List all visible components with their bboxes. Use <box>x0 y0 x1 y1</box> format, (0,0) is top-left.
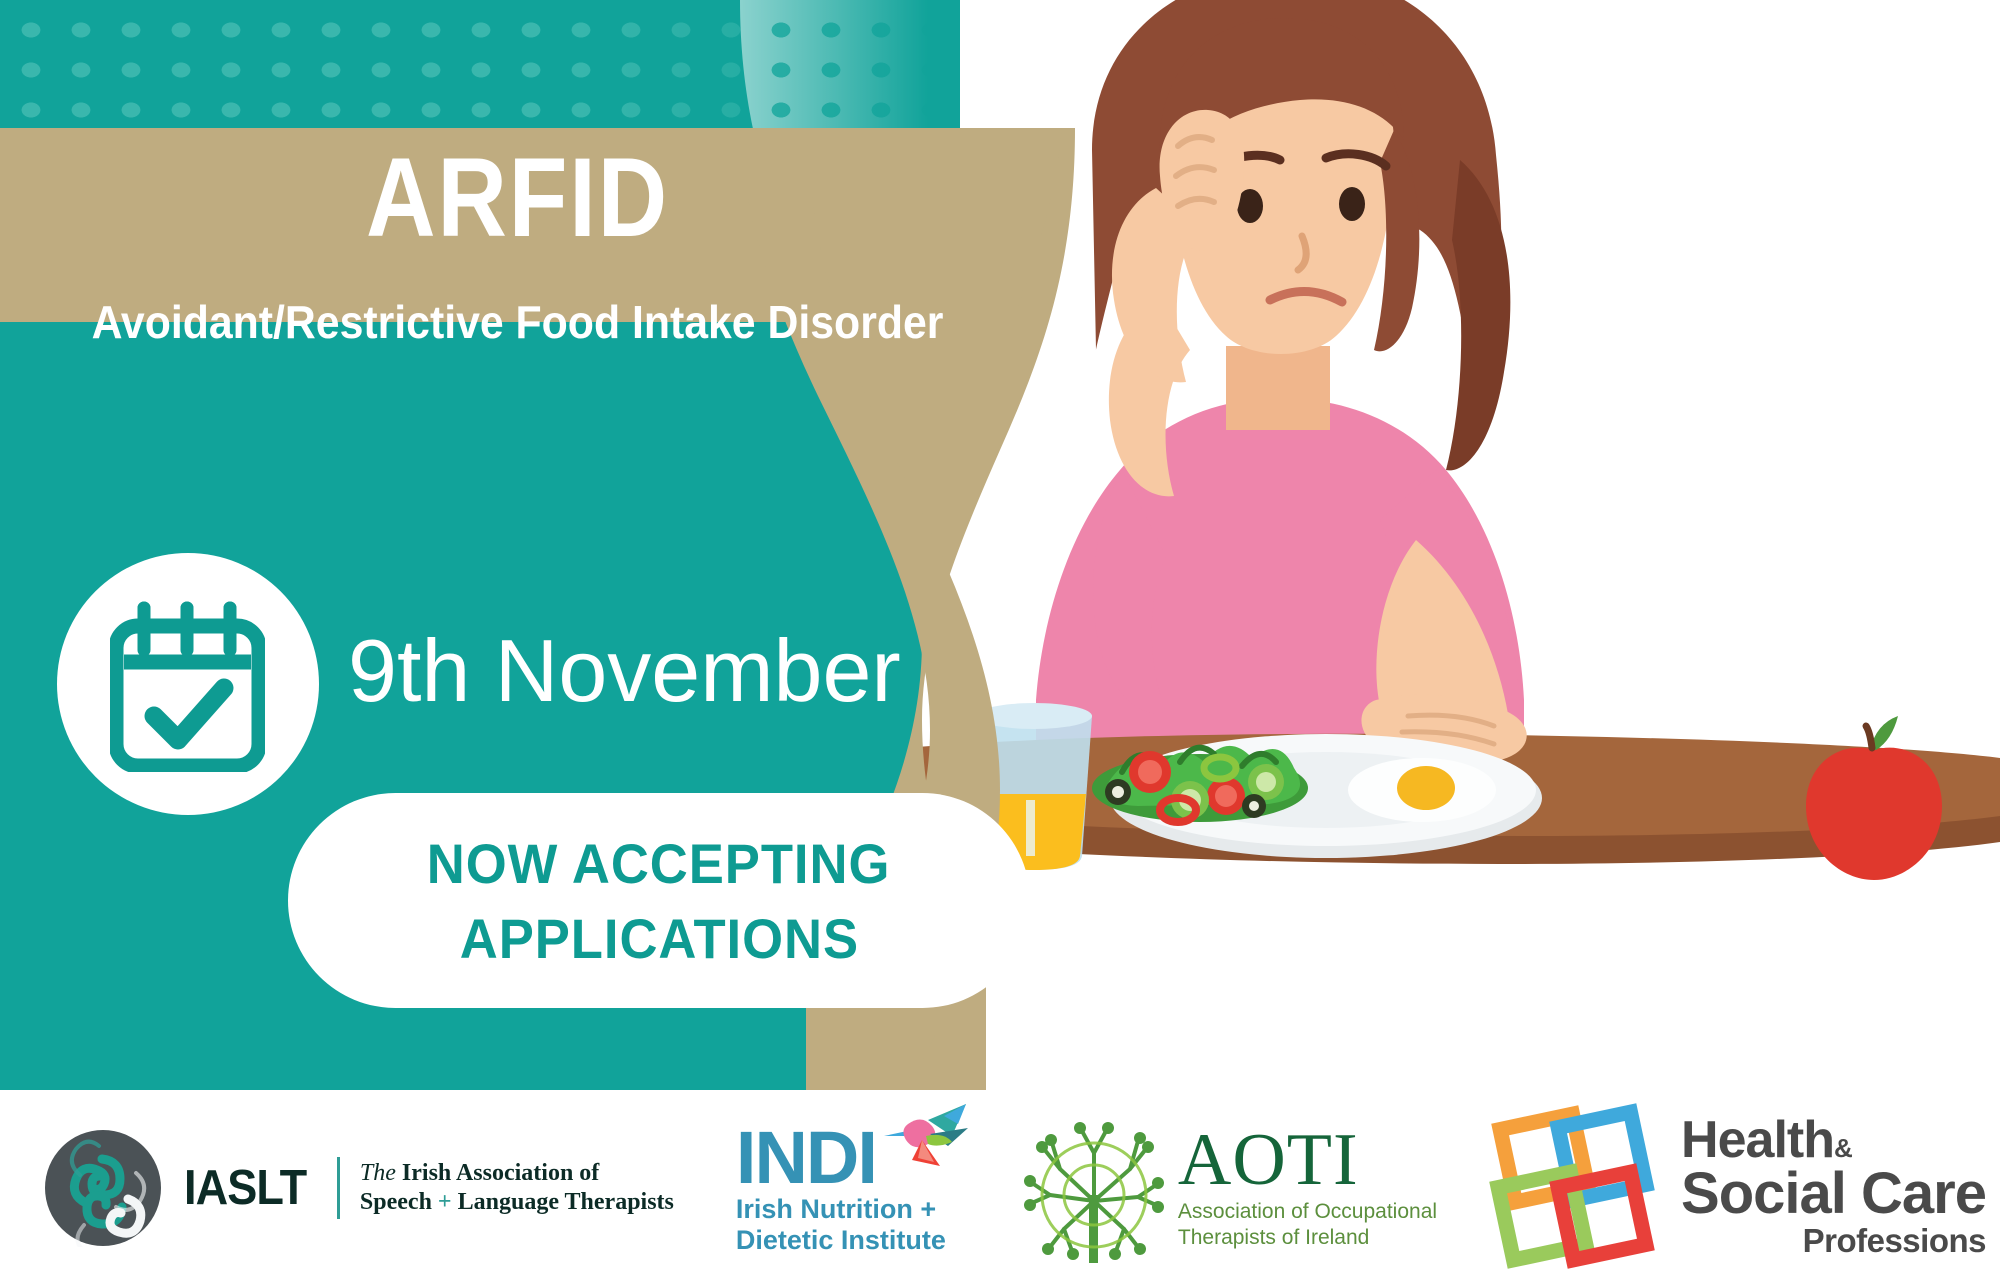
cta-line-2: APPLICATIONS <box>459 906 858 971</box>
indi-abbreviation: INDI <box>736 1127 876 1190</box>
tree-of-hands-icon <box>1020 1109 1168 1267</box>
now-accepting-applications-button[interactable]: NOW ACCEPTING APPLICATIONS <box>288 793 1030 1008</box>
indi-tagline: Irish Nutrition + Dietetic Institute <box>736 1194 946 1257</box>
indi-tagline-line1: Irish Nutrition + <box>736 1194 946 1225</box>
logo-health-social-care-professions[interactable]: Health& Social Care Professions <box>1485 1099 1986 1277</box>
logo-iaslt[interactable]: IASLT The Irish Association of Speech + … <box>44 1129 674 1247</box>
aoti-tagline: Association of Occupational Therapists o… <box>1178 1199 1437 1252</box>
interlocking-squares-icon <box>1485 1099 1663 1277</box>
iaslt-abbreviation: IASLT <box>184 1160 306 1216</box>
page-subtitle: Avoidant/Restrictive Food Intake Disorde… <box>36 295 999 349</box>
partner-logo-strip: IASLT The Irish Association of Speech + … <box>0 1090 2000 1286</box>
divider <box>337 1157 340 1219</box>
triskele-spiral-icon <box>44 1129 162 1247</box>
aoti-tagline-line2: Therapists of Ireland <box>1178 1225 1437 1251</box>
page-title: ARFID <box>72 130 962 265</box>
tagline-line2: Language Therapists <box>458 1189 674 1215</box>
indi-tagline-line2: Dietetic Institute <box>736 1225 946 1256</box>
arfid-promo-poster: ARFID Avoidant/Restrictive Food Intake D… <box>0 0 2000 1286</box>
hscp-line2: Social Care <box>1681 1166 1986 1223</box>
tagline-the: The <box>360 1160 396 1186</box>
hummingbird-icon <box>882 1102 968 1172</box>
logo-indi[interactable]: INDI Irish Nutrition + Die <box>736 1120 968 1257</box>
logo-aoti[interactable]: AOTI Association of Occupational Therapi… <box>1020 1109 1437 1267</box>
calendar-check-icon <box>110 600 265 772</box>
aoti-abbreviation: AOTI <box>1178 1125 1437 1195</box>
aoti-tagline-line1: Association of Occupational <box>1178 1199 1437 1225</box>
tagline-line1: Irish Association of <box>402 1160 599 1186</box>
tagline-plus: + <box>438 1189 452 1215</box>
cta-line-1: NOW ACCEPTING <box>427 831 891 896</box>
hscp-line3: Professions <box>1681 1223 1986 1259</box>
dot-pattern-fade <box>560 0 960 128</box>
iaslt-tagline: The Irish Association of Speech + Langua… <box>360 1159 674 1218</box>
event-date: 9th November <box>348 620 901 722</box>
tagline-speech: Speech <box>360 1189 432 1215</box>
hscp-ampersand: & <box>1834 1133 1852 1163</box>
